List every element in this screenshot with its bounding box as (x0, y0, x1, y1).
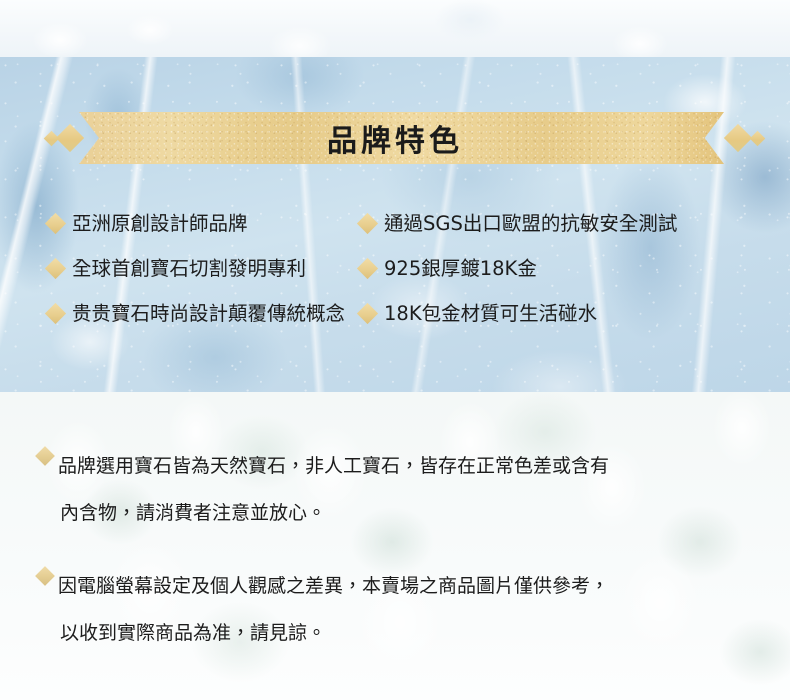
feature-label: 全球首創寶石切割發明專利 (72, 259, 306, 279)
disclaimer-screen-color: 因電腦螢幕設定及個人觀感之差異，本賣場之商品圖片僅供參考， 以收到實際商品為准，… (0, 563, 790, 657)
feature-row: 贵贵寶石時尚設計顛覆傳統概念 18K包金材質可生活碰水 (0, 304, 790, 349)
page-title: 品牌特色 (0, 112, 790, 164)
feature-label: 18K包金材質可生活碰水 (384, 304, 597, 324)
disclaimer-natural-gemstone: 品牌選用寶石皆為天然寶石，非人工寶石，皆存在正常色差或含有 內含物，請消費者注意… (0, 443, 790, 537)
feature-label: 通過SGS出口歐盟的抗敏安全測試 (384, 214, 677, 234)
diamond-bullet-icon (357, 213, 378, 234)
feature-item-water-resistant: 18K包金材質可生活碰水 (350, 304, 742, 324)
diamond-bullet-icon (35, 566, 55, 586)
feature-item-gem-cut-patent: 全球首創寶石切割發明專利 (0, 259, 350, 279)
diamond-bullet-icon (35, 446, 55, 466)
feature-list: 亞洲原創設計師品牌 通過SGS出口歐盟的抗敏安全測試 全球首創寶石切割發明專利 … (0, 214, 790, 349)
disclaimer-list: 品牌選用寶石皆為天然寶石，非人工寶石，皆存在正常色差或含有 內含物，請消費者注意… (0, 443, 790, 683)
diamond-bullet-icon (45, 213, 66, 234)
diamond-bullet-icon (45, 303, 66, 324)
feature-label: 亞洲原創設計師品牌 (72, 214, 248, 234)
disclaimer-line-1: 因電腦螢幕設定及個人觀感之差異，本賣場之商品圖片僅供參考， (58, 575, 609, 597)
disclaimer-line-2: 以收到實際商品為准，請見諒。 (58, 610, 609, 657)
disclaimer-text: 品牌選用寶石皆為天然寶石，非人工寶石，皆存在正常色差或含有 內含物，請消費者注意… (58, 443, 609, 537)
feature-row: 亞洲原創設計師品牌 通過SGS出口歐盟的抗敏安全測試 (0, 214, 790, 259)
feature-item-asia-designer-brand: 亞洲原創設計師品牌 (0, 214, 350, 234)
brand-feature-page: 品牌特色 亞洲原創設計師品牌 通過SGS出口歐盟的抗敏安全測試 全球首創寶石切割… (0, 0, 790, 700)
feature-label: 925銀厚鍍18K金 (384, 259, 537, 279)
disclaimer-line-2: 內含物，請消費者注意並放心。 (58, 490, 609, 537)
background-band-top (0, 0, 790, 57)
feature-label: 贵贵寶石時尚設計顛覆傳統概念 (72, 304, 345, 324)
diamond-bullet-icon (357, 258, 378, 279)
diamond-bullet-icon (357, 303, 378, 324)
feature-item-silver-18k-plating: 925銀厚鍍18K金 (350, 259, 742, 279)
disclaimer-text: 因電腦螢幕設定及個人觀感之差異，本賣場之商品圖片僅供參考， 以收到實際商品為准，… (58, 563, 609, 657)
feature-item-sgs-certified: 通過SGS出口歐盟的抗敏安全測試 (350, 214, 742, 234)
disclaimer-line-1: 品牌選用寶石皆為天然寶石，非人工寶石，皆存在正常色差或含有 (58, 455, 609, 477)
feature-row: 全球首創寶石切割發明專利 925銀厚鍍18K金 (0, 259, 790, 304)
diamond-bullet-icon (45, 258, 66, 279)
feature-item-fashion-design-concept: 贵贵寶石時尚設計顛覆傳統概念 (0, 304, 350, 324)
